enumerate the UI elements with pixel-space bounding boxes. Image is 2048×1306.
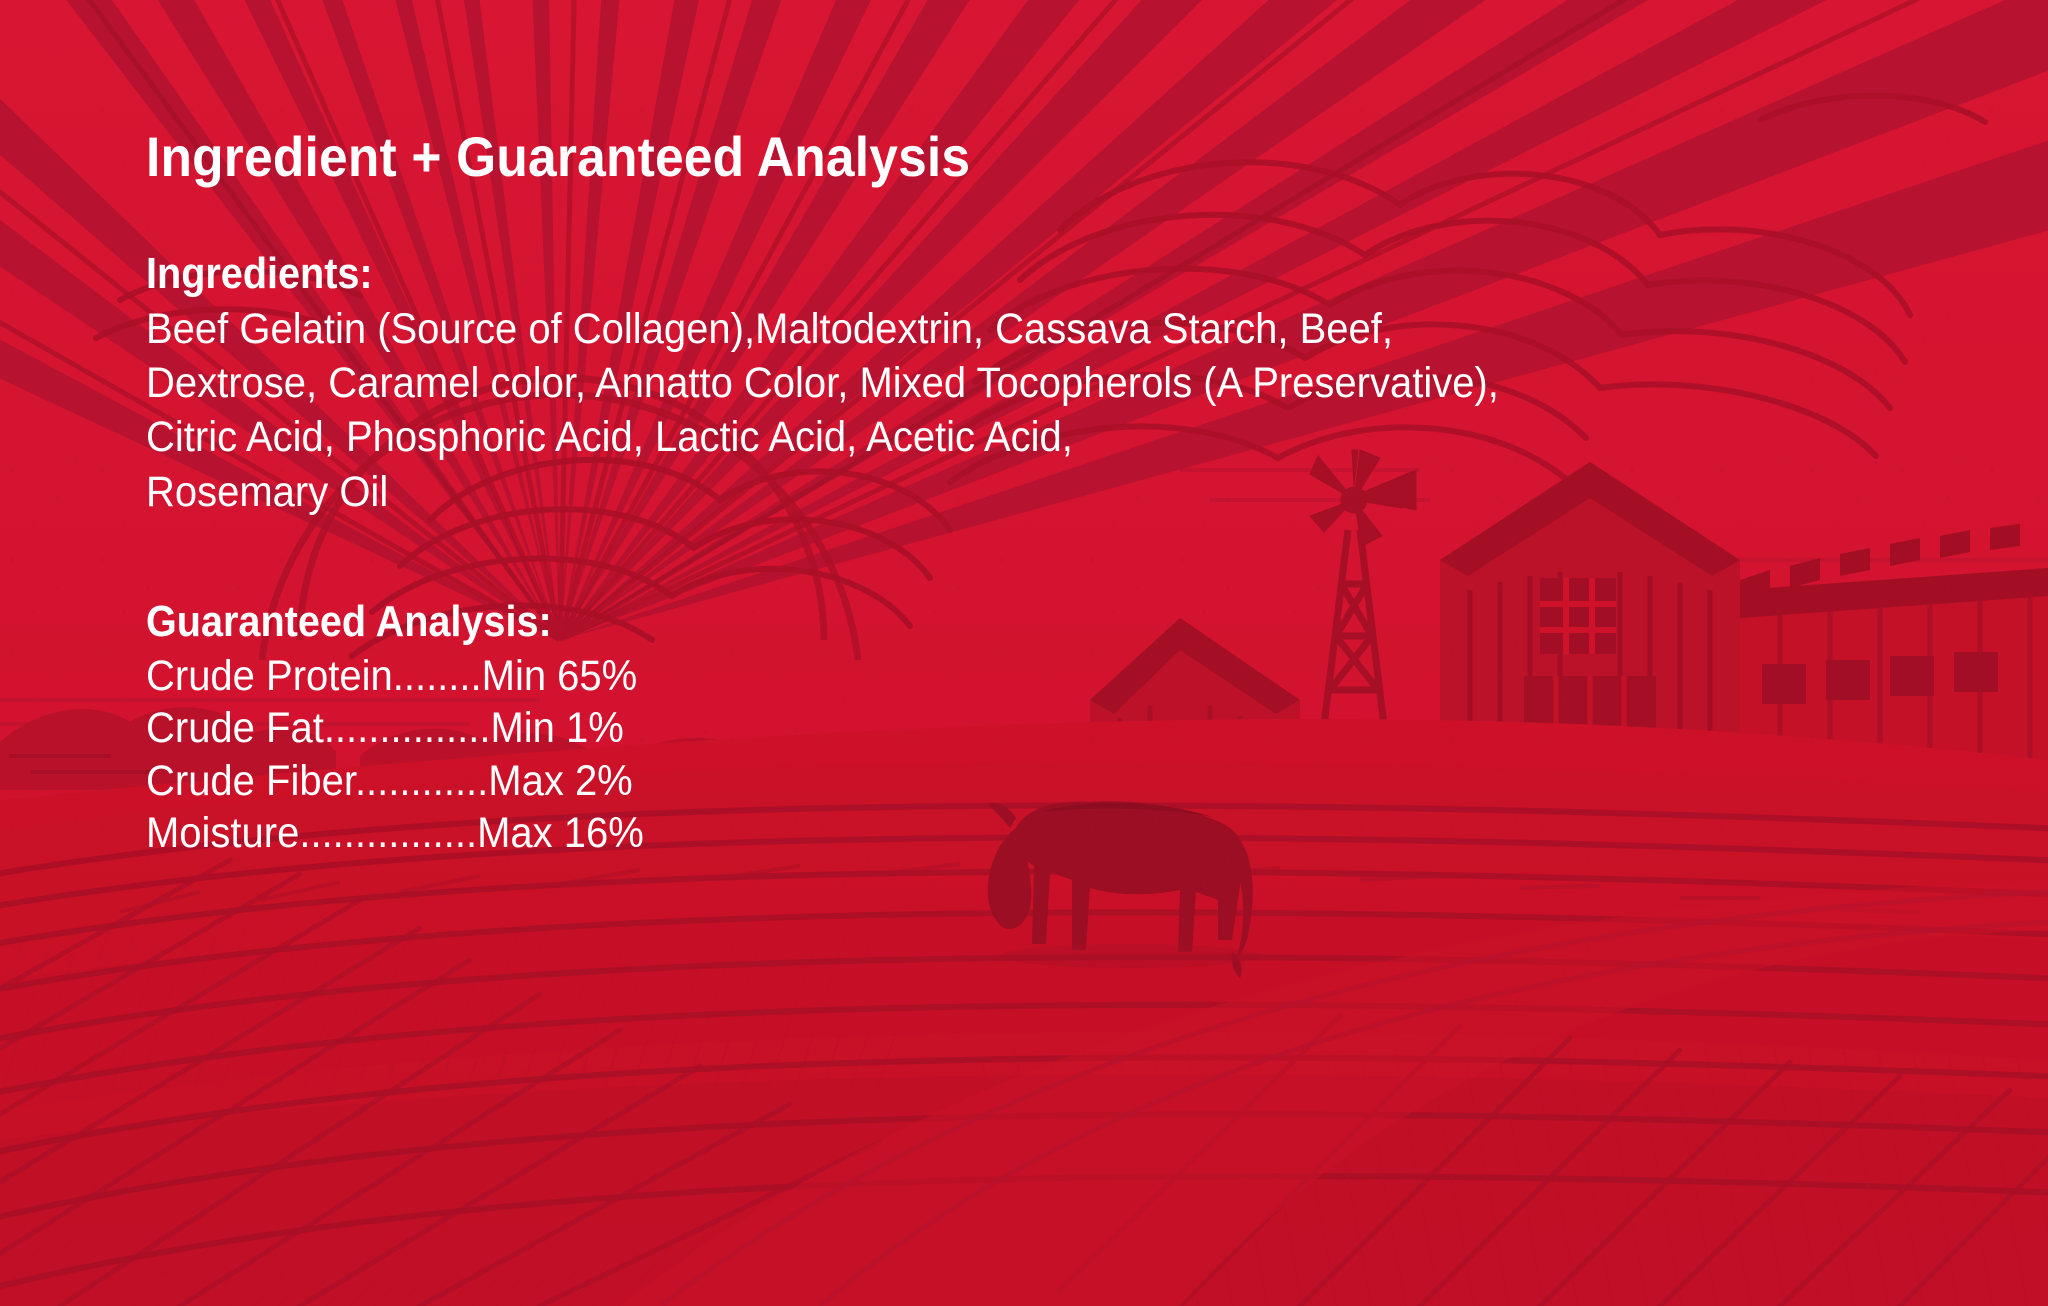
analysis-row: Crude Fiber............Max 2% — [146, 755, 1783, 807]
analysis-leader: ........ — [393, 652, 482, 700]
analysis-value: Max 16% — [477, 809, 644, 857]
analysis-value: Min 1% — [490, 704, 623, 752]
ingredients-text: Beef Gelatin (Source of Collagen),Maltod… — [146, 302, 1783, 519]
analysis-nutrient: Moisture — [146, 809, 299, 857]
ingredients-section: Ingredients: Beef Gelatin (Source of Col… — [146, 249, 1906, 519]
ingredient-panel: Ingredient + Guaranteed Analysis Ingredi… — [0, 0, 2048, 1306]
ingredients-line: Citric Acid, Phosphoric Acid, Lactic Aci… — [146, 410, 1783, 464]
page-title: Ingredient + Guaranteed Analysis — [146, 128, 1765, 187]
analysis-leader: ............ — [355, 757, 488, 805]
analysis-leader: ............... — [324, 704, 491, 752]
ingredients-line: Rosemary Oil — [146, 465, 1783, 519]
analysis-leader: ................ — [299, 809, 477, 857]
analysis-row: Crude Fat...............Min 1% — [146, 702, 1783, 754]
guaranteed-analysis-list: Crude Protein........Min 65% Crude Fat..… — [146, 650, 1783, 860]
analysis-value: Max 2% — [488, 757, 632, 805]
analysis-value: Min 65% — [482, 652, 638, 700]
ingredients-heading: Ingredients: — [146, 249, 1730, 298]
guaranteed-analysis-heading: Guaranteed Analysis: — [146, 597, 1730, 646]
analysis-row: Crude Protein........Min 65% — [146, 650, 1783, 702]
analysis-nutrient: Crude Fiber — [146, 757, 355, 805]
analysis-nutrient: Crude Fat — [146, 704, 324, 752]
analysis-row: Moisture................Max 16% — [146, 807, 1783, 859]
guaranteed-analysis-section: Guaranteed Analysis: Crude Protein......… — [146, 597, 1906, 860]
analysis-nutrient: Crude Protein — [146, 652, 393, 700]
ingredients-line: Dextrose, Caramel color, Annatto Color, … — [146, 356, 1783, 410]
label-content: Ingredient + Guaranteed Analysis Ingredi… — [146, 128, 1906, 860]
ingredients-line: Beef Gelatin (Source of Collagen),Maltod… — [146, 302, 1783, 356]
